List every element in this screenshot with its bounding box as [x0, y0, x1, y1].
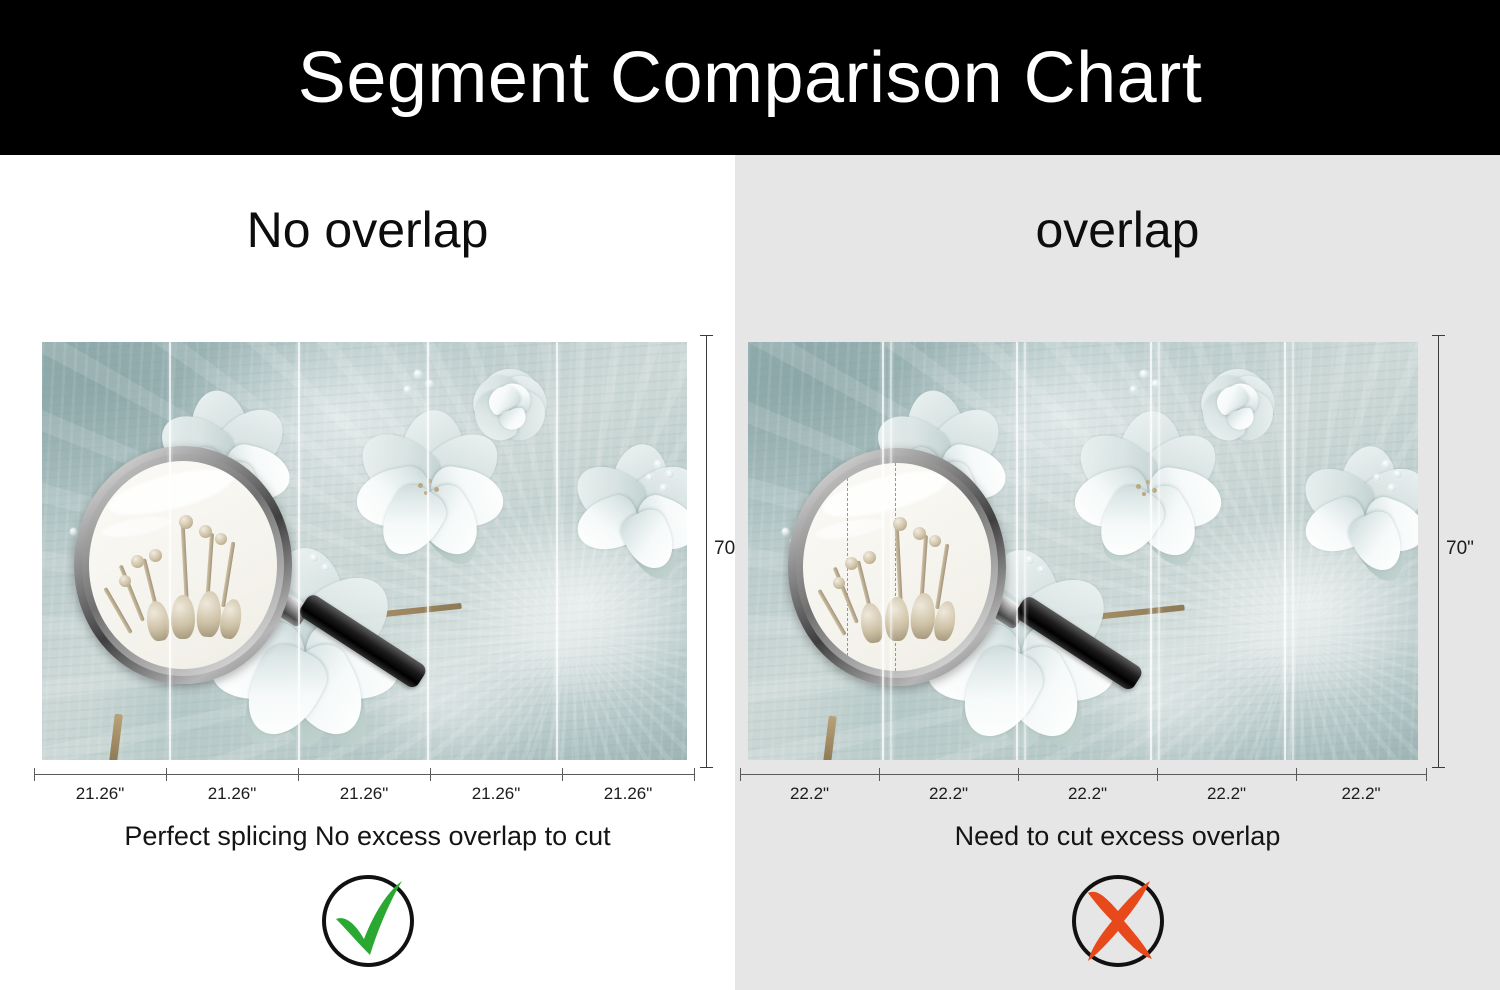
panel-seam — [298, 342, 300, 760]
red-cross-icon — [1066, 867, 1170, 971]
width-dimension-tick — [562, 768, 563, 781]
segment-width-label: 21.26" — [298, 784, 430, 804]
width-dimension-tick — [1426, 768, 1427, 781]
panel-seam — [1150, 342, 1152, 760]
comparison-chart-page: Segment Comparison Chart No overlap — [0, 0, 1500, 990]
segment-width-label: 22.2" — [1018, 784, 1157, 804]
width-dimension-tick — [694, 768, 695, 781]
height-dimension-line — [706, 335, 707, 767]
segment-width-label: 22.2" — [1296, 784, 1426, 804]
width-dimension-line — [740, 774, 1426, 775]
height-dimension-cap-bottom — [700, 767, 713, 768]
magnifier-lens — [803, 463, 991, 671]
panel-seam — [169, 342, 171, 760]
width-dimension-tick — [1018, 768, 1019, 781]
segment-width-label: 22.2" — [1157, 784, 1296, 804]
mural-image-left — [42, 342, 687, 760]
height-dimension-cap-top — [1432, 335, 1445, 336]
magnifier-right — [748, 342, 1418, 760]
width-dimension-tick — [879, 768, 880, 781]
panel-seam — [427, 342, 429, 760]
panel-seam — [556, 342, 558, 760]
mural-overlap: 70" 22.2" 22.2" 22.2" 22.2" 22.2" — [748, 342, 1418, 760]
mural-image-right — [748, 342, 1418, 760]
segment-width-label: 21.26" — [166, 784, 298, 804]
magnifier-lens — [89, 461, 277, 669]
height-dimension-line — [1438, 335, 1439, 767]
panel-overlap: overlap — [735, 155, 1500, 990]
page-title: Segment Comparison Chart — [298, 42, 1202, 114]
height-dimension-label: 70" — [1446, 538, 1474, 560]
magnifier-left — [42, 342, 687, 760]
height-dimension-cap-top — [700, 335, 713, 336]
segment-width-label: 22.2" — [740, 784, 879, 804]
width-dimension-tick — [298, 768, 299, 781]
panel-seam — [882, 342, 884, 760]
width-dimension-tick — [1296, 768, 1297, 781]
panel-seam — [1016, 342, 1018, 760]
width-dimension-tick — [34, 768, 35, 781]
panel-no-overlap: No overlap — [0, 155, 735, 990]
segment-width-label: 21.26" — [34, 784, 166, 804]
width-dimension-line — [34, 774, 694, 775]
panel-seam — [1284, 342, 1286, 760]
segment-width-label: 21.26" — [430, 784, 562, 804]
panels-container: No overlap — [0, 155, 1500, 990]
badge-failure — [735, 867, 1500, 971]
panel-heading-overlap: overlap — [735, 205, 1500, 255]
width-dimension-tick — [166, 768, 167, 781]
panel-seam-overlap — [890, 342, 892, 760]
mural-no-overlap: 70" 21.26" 21.26" 21.26" 21.26" 21.26" — [42, 342, 687, 760]
panel-seam-overlap — [1024, 342, 1026, 760]
width-dimension-tick — [740, 768, 741, 781]
panel-seam-overlap — [1158, 342, 1160, 760]
segment-width-label: 21.26" — [562, 784, 694, 804]
width-dimension-tick — [1157, 768, 1158, 781]
height-dimension-cap-bottom — [1432, 767, 1445, 768]
green-check-icon — [316, 867, 420, 971]
caption-no-overlap: Perfect splicing No excess overlap to cu… — [0, 823, 783, 850]
caption-overlap: Need to cut excess overlap — [735, 823, 1500, 850]
badge-success — [0, 867, 783, 971]
title-bar: Segment Comparison Chart — [0, 0, 1500, 155]
segment-width-label: 22.2" — [879, 784, 1018, 804]
width-dimension-tick — [430, 768, 431, 781]
panel-seam-overlap — [1292, 342, 1294, 760]
